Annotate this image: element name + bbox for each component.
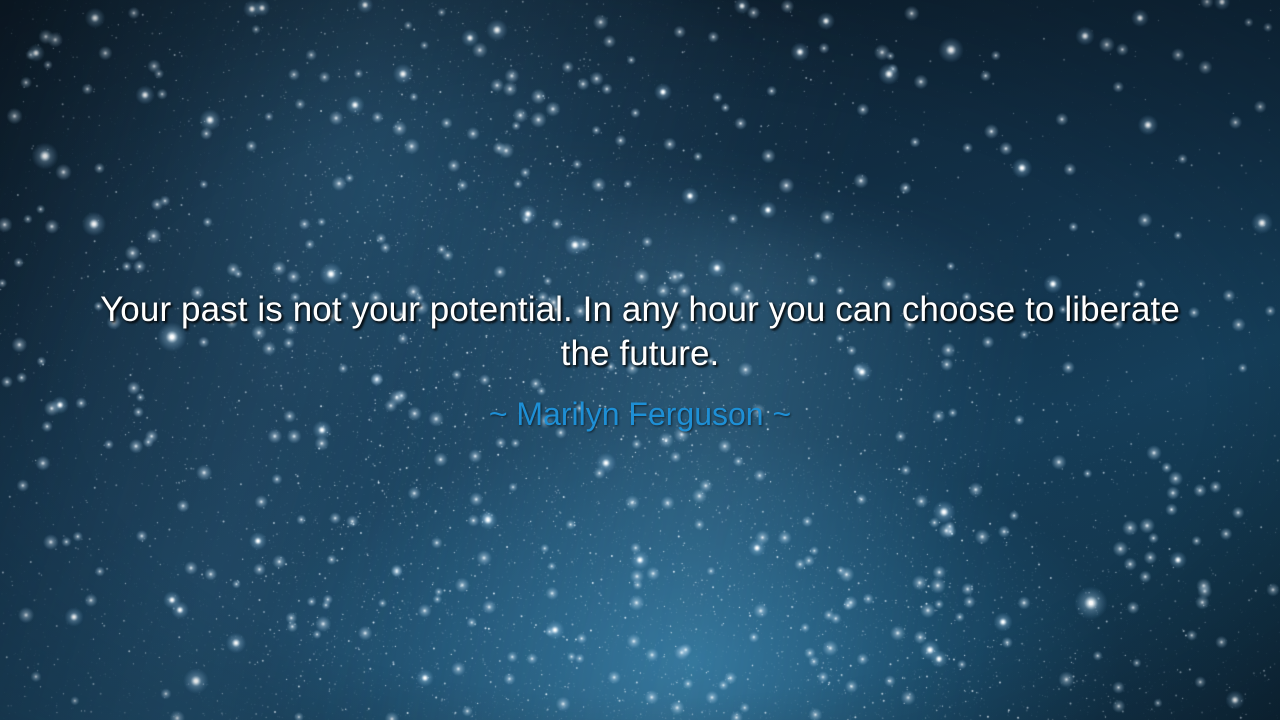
quote-slide: Your past is not your potential. In any … <box>0 0 1280 720</box>
night-sky-background <box>0 0 1280 720</box>
